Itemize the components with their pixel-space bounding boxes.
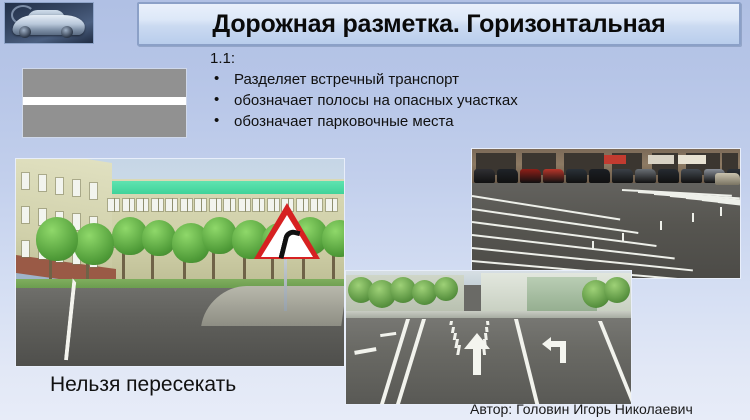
- tree-canopy: [142, 220, 176, 256]
- window: [90, 183, 97, 199]
- warning-curve-sign-icon: [254, 203, 320, 261]
- window: [224, 199, 230, 211]
- window: [115, 199, 119, 211]
- slide-title: Дорожная разметка. Горизонтальная: [212, 10, 665, 39]
- tree-canopy: [434, 277, 458, 301]
- car: [635, 169, 656, 183]
- photo-street-double-solid-line-arrows: [345, 270, 632, 405]
- caption-cannot-cross: Нельзя пересекать: [50, 373, 236, 397]
- window: [173, 199, 177, 211]
- window: [188, 199, 192, 211]
- arrow-shaft: [473, 345, 481, 375]
- window: [130, 199, 134, 211]
- window: [22, 241, 29, 257]
- awning: [678, 155, 706, 164]
- car: [589, 169, 610, 183]
- window: [22, 207, 29, 223]
- sidewalk-strip: [346, 311, 631, 318]
- photo-parking-lot-markings: [471, 148, 741, 279]
- car: [474, 169, 495, 183]
- road-curb: [201, 286, 345, 326]
- bay-tick: [592, 241, 594, 250]
- window: [195, 199, 201, 211]
- window: [73, 180, 80, 196]
- car-logo-icon: [4, 2, 94, 44]
- bay-tick: [692, 213, 694, 222]
- window: [22, 173, 29, 189]
- window: [231, 199, 235, 211]
- author-credit: Автор: Головин Игорь Николаевич: [470, 401, 693, 417]
- bullet-list: Разделяет встречный транспорт обозначает…: [206, 69, 626, 132]
- bay-tick: [622, 233, 624, 242]
- presentation-slide: Дорожная разметка. Горизонтальная 1.1: Р…: [0, 0, 750, 420]
- bay-tick: [720, 207, 722, 216]
- left-turn-arrow: [542, 337, 572, 363]
- photo-curved-road-with-warning-sign: [15, 158, 345, 367]
- tree-canopy: [412, 280, 437, 305]
- window: [181, 199, 187, 211]
- window: [123, 199, 129, 211]
- logo-car-wheel-front: [19, 26, 31, 38]
- dash-segment: [485, 327, 489, 332]
- window: [39, 175, 46, 191]
- car: [658, 169, 679, 183]
- white-edge-line: [68, 288, 192, 366]
- bay-tick: [660, 221, 662, 230]
- window: [159, 199, 163, 211]
- building-green-roof: [102, 181, 344, 194]
- tree-canopy: [322, 220, 345, 257]
- window: [333, 199, 337, 211]
- window: [246, 199, 250, 211]
- window: [108, 199, 114, 211]
- arrow-head: [464, 333, 490, 349]
- window: [166, 199, 172, 211]
- window: [239, 199, 245, 211]
- window: [56, 178, 63, 194]
- car: [612, 169, 633, 183]
- awning: [604, 155, 626, 164]
- arrow-head: [542, 337, 551, 351]
- window: [326, 199, 332, 211]
- window: [144, 199, 148, 211]
- logo-car-wheel-rear: [61, 26, 73, 38]
- solid-line-marking-diagram: [22, 68, 187, 138]
- car: [681, 169, 702, 183]
- white-solid-line: [23, 97, 186, 105]
- bullet-block: 1.1: Разделяет встречный транспорт обозн…: [206, 50, 626, 132]
- car: [566, 169, 587, 183]
- car: [543, 169, 564, 183]
- tree-canopy: [36, 217, 78, 261]
- window: [217, 199, 221, 211]
- car: [520, 169, 541, 183]
- window: [202, 199, 206, 211]
- list-item: обозначает парковочные места: [206, 111, 626, 132]
- car: [497, 169, 518, 183]
- slide-title-bar: Дорожная разметка. Горизонтальная: [137, 2, 741, 46]
- window: [137, 199, 143, 211]
- window: [210, 199, 216, 211]
- list-item: обозначает полосы на опасных участках: [206, 90, 626, 111]
- tree-canopy: [74, 223, 114, 265]
- bullet-heading: 1.1:: [210, 50, 626, 67]
- awning: [648, 155, 674, 164]
- tree-canopy: [604, 277, 630, 303]
- list-item: Разделяет встречный транспорт: [206, 69, 626, 90]
- straight-arrow: [464, 333, 490, 375]
- window: [152, 199, 158, 211]
- car: [715, 173, 740, 185]
- dash-segment: [486, 321, 489, 325]
